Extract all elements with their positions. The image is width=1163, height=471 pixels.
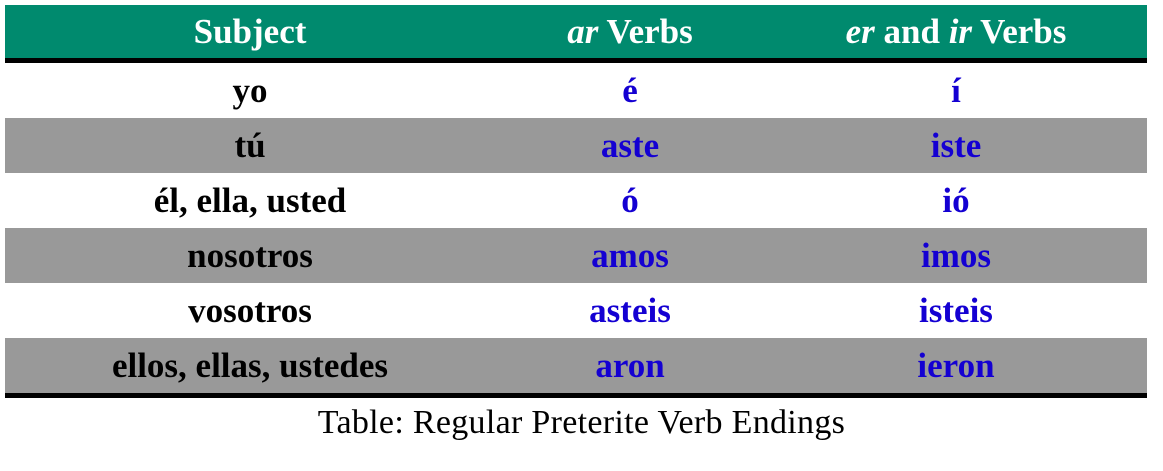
table-row: tú aste iste: [5, 118, 1147, 173]
subject-cell: ellos, ellas, ustedes: [5, 338, 495, 396]
column-header-ar-verbs-label: Verbs: [598, 12, 692, 51]
table-row: ellos, ellas, ustedes aron ieron: [5, 338, 1147, 396]
verb-endings-table-wrapper: Subject ar Verbs er and ir Verbs yo é í: [5, 5, 1147, 398]
column-header-er-ir-verbs-label: Verbs: [972, 12, 1066, 51]
column-header-and-label: and: [875, 12, 949, 51]
ar-ending-cell: é: [495, 61, 765, 119]
subject-cell: vosotros: [5, 283, 495, 338]
er-ir-ending-cell: isteis: [765, 283, 1147, 338]
table-row: nosotros amos imos: [5, 228, 1147, 283]
er-ir-ending-cell: ieron: [765, 338, 1147, 396]
column-header-subject: Subject: [5, 5, 495, 61]
table-body: yo é í tú aste iste él, ella, usted ó ió…: [5, 61, 1147, 396]
er-ir-ending-cell: í: [765, 61, 1147, 119]
ar-ending-cell: asteis: [495, 283, 765, 338]
table-row: él, ella, usted ó ió: [5, 173, 1147, 228]
table-header-row: Subject ar Verbs er and ir Verbs: [5, 5, 1147, 61]
column-header-subject-label: Subject: [194, 12, 307, 51]
table-row: vosotros asteis isteis: [5, 283, 1147, 338]
subject-cell: yo: [5, 61, 495, 119]
table-row: yo é í: [5, 61, 1147, 119]
column-header-ar-italic: ar: [567, 12, 598, 51]
table-header: Subject ar Verbs er and ir Verbs: [5, 5, 1147, 61]
ar-ending-cell: aron: [495, 338, 765, 396]
column-header-er-ir-verbs: er and ir Verbs: [765, 5, 1147, 61]
ar-ending-cell: amos: [495, 228, 765, 283]
subject-cell: él, ella, usted: [5, 173, 495, 228]
subject-cell: nosotros: [5, 228, 495, 283]
er-ir-ending-cell: iste: [765, 118, 1147, 173]
er-ir-ending-cell: ió: [765, 173, 1147, 228]
ar-ending-cell: aste: [495, 118, 765, 173]
ar-ending-cell: ó: [495, 173, 765, 228]
subject-cell: tú: [5, 118, 495, 173]
er-ir-ending-cell: imos: [765, 228, 1147, 283]
table-caption: Table: Regular Preterite Verb Endings: [0, 404, 1163, 442]
column-header-ar-verbs: ar Verbs: [495, 5, 765, 61]
column-header-ir-italic: ir: [949, 12, 972, 51]
column-header-er-italic: er: [846, 12, 875, 51]
preterite-endings-figure: Subject ar Verbs er and ir Verbs yo é í: [0, 0, 1163, 471]
verb-endings-table: Subject ar Verbs er and ir Verbs yo é í: [5, 5, 1147, 398]
